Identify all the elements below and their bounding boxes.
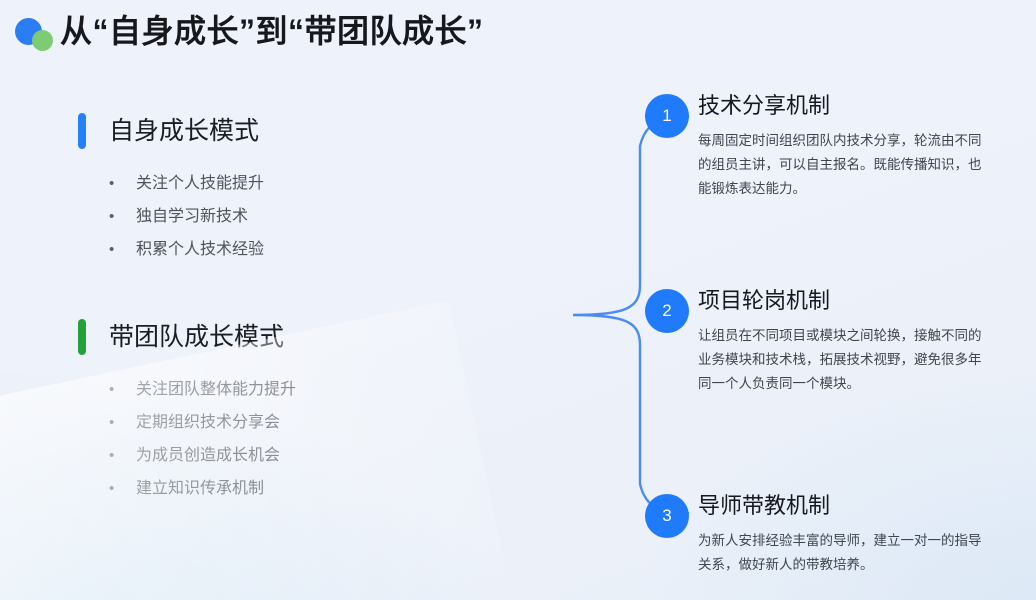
list-item-label: 为成员创造成长机会 [136,439,280,472]
step-item-1: 1 技术分享机制 每周固定时间组织团队内技术分享，轮流由不同的组员主讲，可以自主… [645,94,1036,201]
bullet-list: • 关注个人技能提升 • 独自学习新技术 • 积累个人技术经验 [78,167,548,266]
list-item-label: 建立知识传承机制 [136,472,264,505]
mode-block-team-growth: 带团队成长模式 • 关注团队整体能力提升 • 定期组织技术分享会 • 为成员创造… [78,319,548,505]
list-item: • 关注个人技能提升 [78,167,548,200]
bullet-dot-icon: • [109,472,136,505]
right-column: 1 技术分享机制 每周固定时间组织团队内技术分享，轮流由不同的组员主讲，可以自主… [645,0,1036,600]
step-number-badge: 2 [645,289,689,333]
bullet-dot-icon: • [109,373,136,406]
list-item: • 定期组织技术分享会 [78,406,548,439]
step-content: 导师带教机制 为新人安排经验丰富的导师，建立一对一的指导关系，做好新人的带教培养… [698,494,1036,577]
mode-title: 带团队成长模式 [109,325,284,350]
mode-block-self-growth: 自身成长模式 • 关注个人技能提升 • 独自学习新技术 • 积累个人技术经验 [78,113,548,266]
list-item: • 独自学习新技术 [78,200,548,233]
list-item: • 建立知识传承机制 [78,472,548,505]
mode-heading: 自身成长模式 [78,113,548,149]
list-item-label: 关注团队整体能力提升 [136,373,296,406]
list-item-label: 关注个人技能提升 [136,167,264,200]
brand-logo-icon [14,11,58,51]
bullet-dot-icon: • [109,233,136,266]
list-item: • 关注团队整体能力提升 [78,373,548,406]
logo-green-circle-icon [32,30,53,51]
mode-heading: 带团队成长模式 [78,319,548,355]
accent-bar-icon [78,113,86,149]
list-item-label: 积累个人技术经验 [136,233,264,266]
step-title: 导师带教机制 [698,494,1036,518]
step-description: 为新人安排经验丰富的导师，建立一对一的指导关系，做好新人的带教培养。 [698,529,992,577]
step-content: 技术分享机制 每周固定时间组织团队内技术分享，轮流由不同的组员主讲，可以自主报名… [698,94,1036,201]
slide-header: 从“自身成长”到“带团队成长” [14,6,484,56]
bullet-list: • 关注团队整体能力提升 • 定期组织技术分享会 • 为成员创造成长机会 • 建… [78,373,548,505]
step-item-3: 3 导师带教机制 为新人安排经验丰富的导师，建立一对一的指导关系，做好新人的带教… [645,494,1036,577]
list-item-label: 定期组织技术分享会 [136,406,280,439]
list-item-label: 独自学习新技术 [136,200,248,233]
step-content: 项目轮岗机制 让组员在不同项目或模块之间轮换，接触不同的业务模块和技术栈，拓展技… [698,289,1036,396]
slide-canvas: 从“自身成长”到“带团队成长” 自身成长模式 • 关注个人技能提升 • 独自学习… [0,0,1036,600]
list-item: • 为成员创造成长机会 [78,439,548,472]
accent-bar-icon [78,319,86,355]
left-column: 自身成长模式 • 关注个人技能提升 • 独自学习新技术 • 积累个人技术经验 [78,113,548,505]
step-number-badge: 1 [645,94,689,138]
bullet-dot-icon: • [109,439,136,472]
list-item: • 积累个人技术经验 [78,233,548,266]
step-description: 每周固定时间组织团队内技术分享，轮流由不同的组员主讲，可以自主报名。既能传播知识… [698,129,992,201]
step-title: 技术分享机制 [698,94,1036,118]
mode-title: 自身成长模式 [109,119,259,144]
step-number-badge: 3 [645,494,689,538]
bullet-dot-icon: • [109,406,136,439]
bullet-dot-icon: • [109,200,136,233]
bullet-dot-icon: • [109,167,136,200]
page-title: 从“自身成长”到“带团队成长” [60,15,484,47]
step-item-2: 2 项目轮岗机制 让组员在不同项目或模块之间轮换，接触不同的业务模块和技术栈，拓… [645,289,1036,396]
step-title: 项目轮岗机制 [698,289,1036,313]
step-description: 让组员在不同项目或模块之间轮换，接触不同的业务模块和技术栈，拓展技术视野，避免很… [698,324,992,396]
